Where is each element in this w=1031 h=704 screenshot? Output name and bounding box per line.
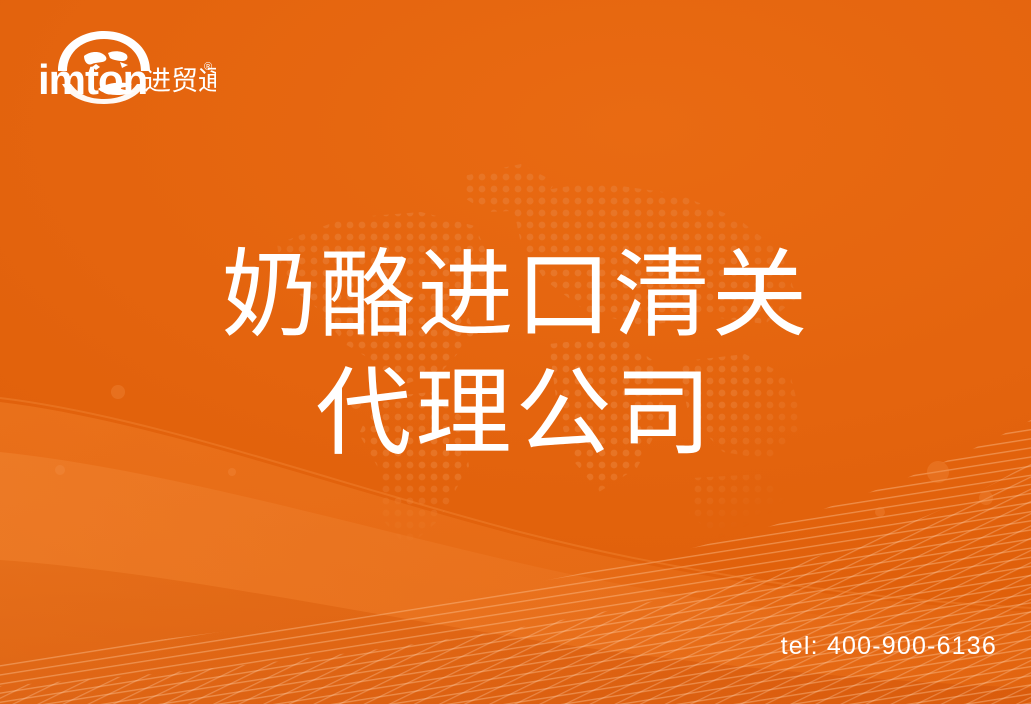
logo-trademark: ®: [204, 61, 212, 73]
contact-phone[interactable]: tel: 400-900-6136: [781, 632, 997, 661]
company-logo: imton 进贸通 ®: [36, 26, 216, 104]
logo-wordmark: imton: [38, 56, 147, 103]
title-line-1: 奶酪进口清关: [0, 236, 1031, 354]
page-title: 奶酪进口清关 代理公司: [0, 236, 1031, 472]
title-line-2: 代理公司: [0, 354, 1031, 472]
promo-banner: imton 进贸通 ® 奶酪进口清关 代理公司 tel: 400-900-613…: [0, 0, 1031, 704]
